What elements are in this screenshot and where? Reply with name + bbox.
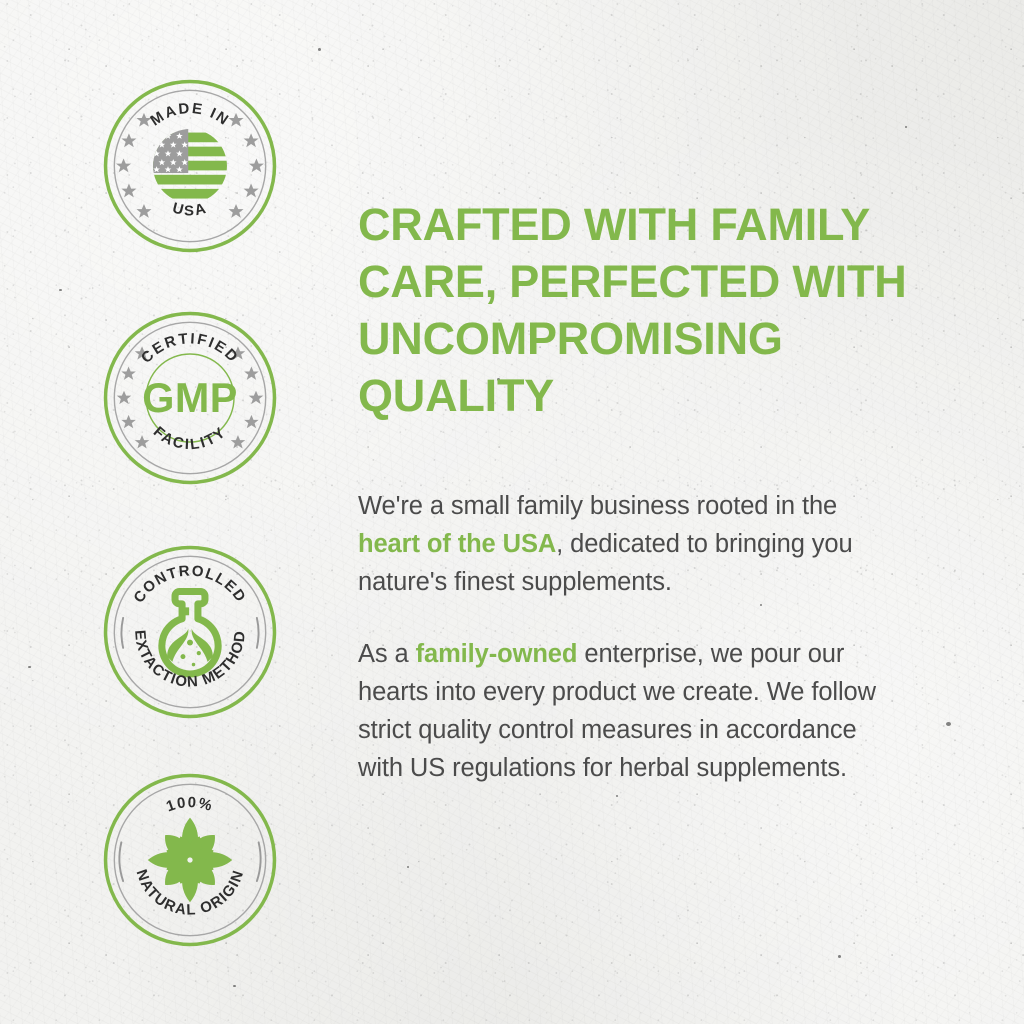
page-title: CRAFTED WITH FAMILYCARE, PERFECTED WITHU… [358,196,918,424]
flask-with-leaves-graphic [162,592,218,674]
natural-origin-top-label: 100% [164,794,215,815]
made-in-usa-top-label: MADE IN [147,100,232,130]
controlled-extraction-method-badge: CONTROLLED EXTACTION METHOD [102,544,278,720]
gmp-bottom-label: FACILITY [150,423,230,453]
promo-graphic-canvas: MADE IN USA [0,0,1024,1024]
paragraph-2-segment-1: As a [358,640,416,668]
paragraph-2-highlight: family-owned [416,640,578,668]
gmp-top-label: CERTIFIED [138,330,242,366]
headline-line-3: UNCOMPROMISING [358,313,783,364]
certification-badge-column: MADE IN USA [0,0,330,1024]
text-content-block: CRAFTED WITH FAMILYCARE, PERFECTED WITHU… [358,196,918,787]
extraction-bottom-label: EXTACTION METHOD [131,629,249,690]
paragraph-1-segment-1: We're a small family business rooted in … [358,492,837,520]
headline-line-4: QUALITY [358,370,554,421]
made-in-usa-bottom-label: USA [171,200,210,220]
natural-origin-badge: 100% NATURAL ORIGIN [102,772,278,948]
headline-line-2: CARE, PERFECTED WITH [358,256,907,307]
made-in-usa-badge: MADE IN USA [102,78,278,254]
gmp-certified-facility-badge: GMP CERTIFIED FACILITY [102,310,278,486]
paragraph-1: We're a small family business rooted in … [358,487,858,601]
gmp-center-label: GMP [142,375,238,421]
paragraph-2: As a family-owned enterprise, we pour ou… [358,635,898,787]
usa-flag-circle-graphic [148,127,232,198]
headline-line-1: CRAFTED WITH FAMILY [358,199,870,250]
paragraph-1-highlight: heart of the USA [358,530,556,558]
